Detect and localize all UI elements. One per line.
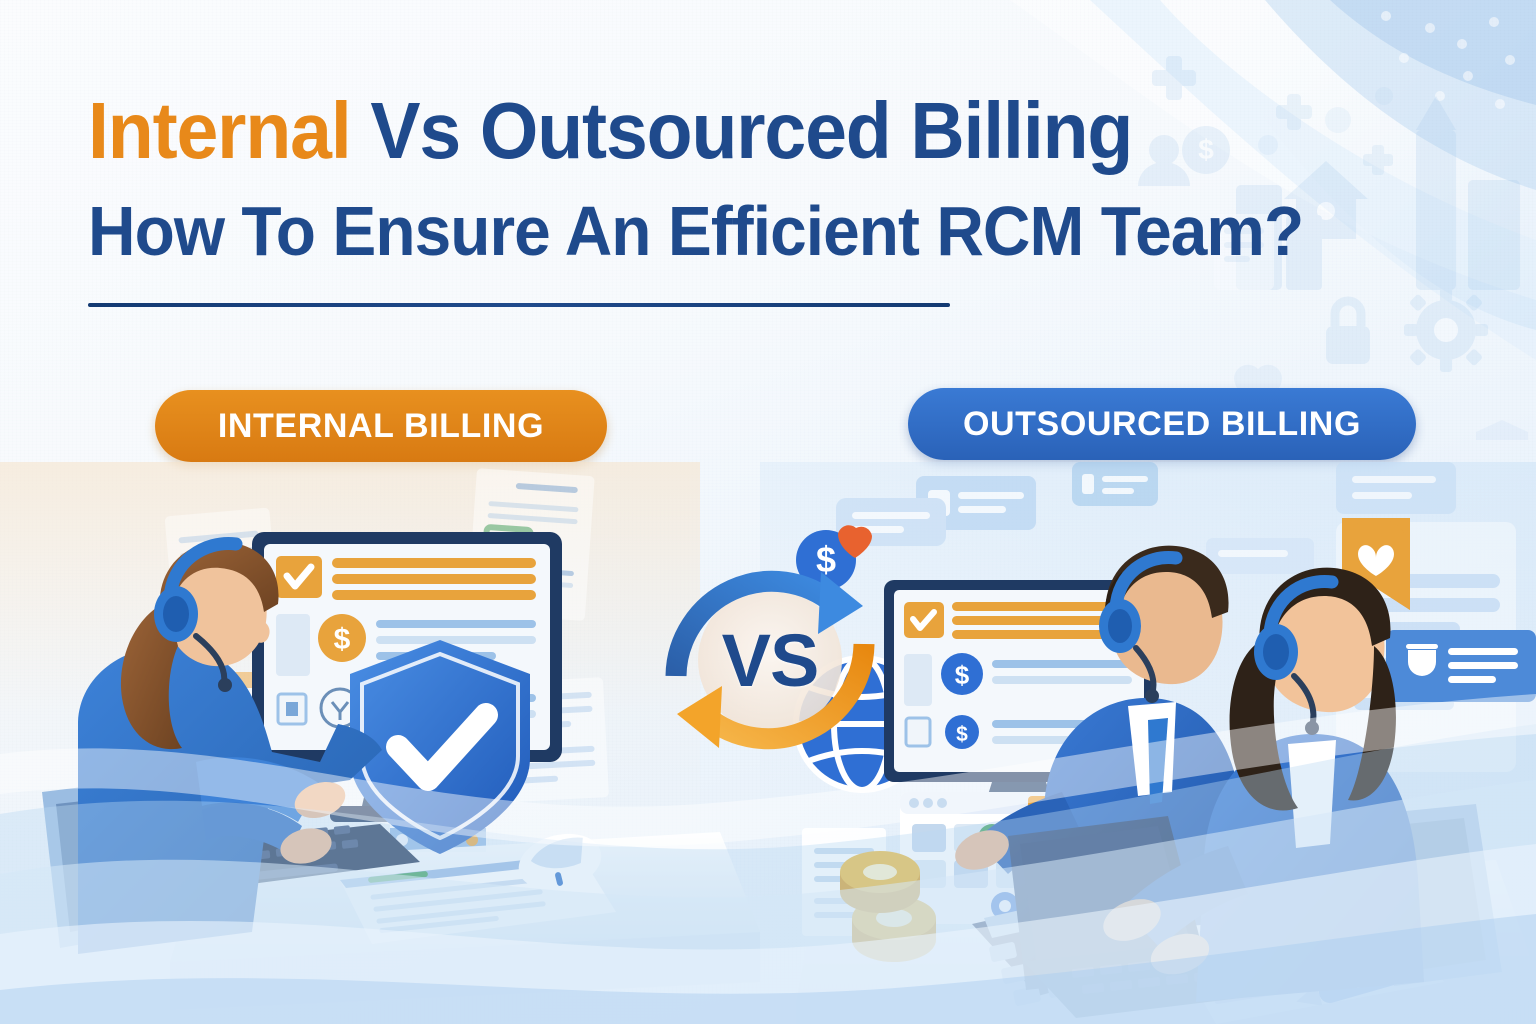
svg-text:$: $ [955, 660, 970, 690]
page-title-highlight: Internal [88, 86, 351, 175]
headset-mic [218, 678, 232, 692]
page-title: Internal Vs Outsourced Billing [88, 92, 1084, 170]
vs-label: VS [658, 548, 882, 772]
badge-outsourced-billing[interactable]: OUTSOURCED BILLING [908, 388, 1416, 460]
badge-outsourced-billing-label: OUTSOURCED BILLING [963, 405, 1361, 444]
title-divider [88, 303, 950, 307]
badge-internal-billing-label: INTERNAL BILLING [218, 407, 544, 446]
badge-internal-billing[interactable]: INTERNAL BILLING [155, 390, 607, 462]
info-card-right [1386, 630, 1536, 702]
header-block: Internal Vs Outsourced Billing How To En… [88, 92, 1148, 266]
poster-canvas: $ [0, 0, 1536, 1024]
vs-badge: VS [658, 548, 882, 772]
page-title-rest: Vs Outsourced Billing [351, 86, 1133, 175]
svg-text:$: $ [334, 623, 351, 656]
page-subtitle: How To Ensure An Efficient RCM Team? [88, 196, 1084, 266]
